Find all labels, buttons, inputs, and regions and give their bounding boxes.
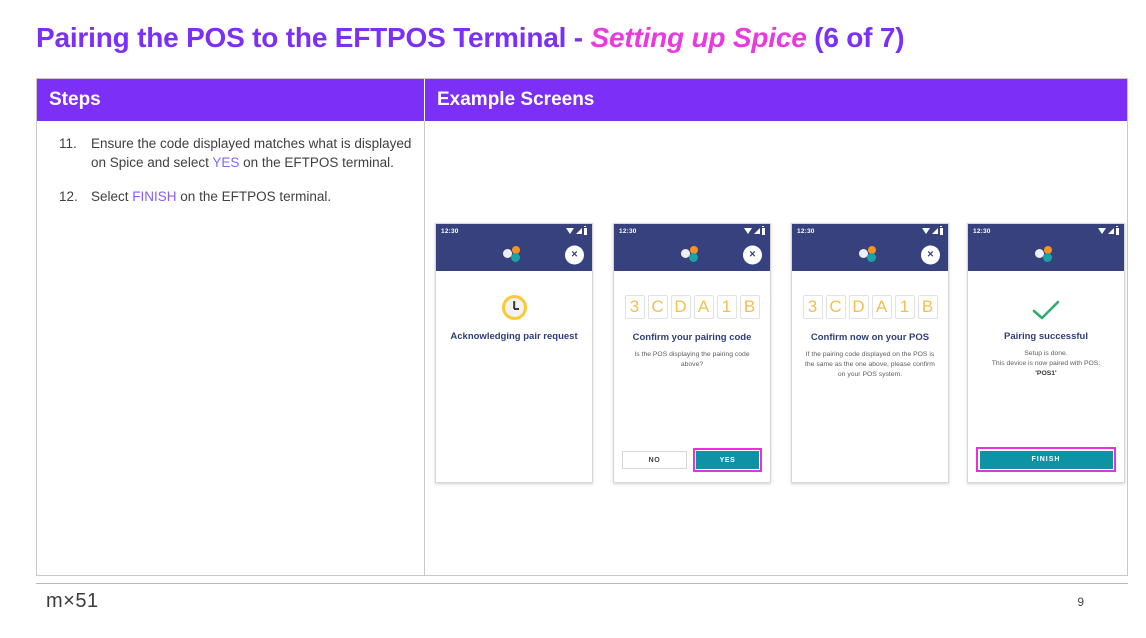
- status-bar: 12:30: [968, 224, 1124, 238]
- column-header-example-screens: Example Screens: [425, 79, 1127, 121]
- pairing-code-digit: D: [849, 295, 869, 319]
- screen-content: Acknowledging pair request: [436, 271, 592, 482]
- pairing-code-digit: 3: [803, 295, 823, 319]
- finish-button[interactable]: FINISH: [980, 451, 1113, 469]
- phone-screen-confirm-pairing-code: 12:30 ×: [613, 223, 771, 483]
- mx51-logo-icon: [1035, 246, 1057, 263]
- clock-icon: [502, 295, 527, 320]
- pairing-code-digit: A: [872, 295, 892, 319]
- phone-mockups: 12:30 ×: [425, 121, 1127, 576]
- phone-screen-acknowledging: 12:30 ×: [435, 223, 593, 483]
- wifi-icon: [922, 228, 930, 234]
- signal-icon: [1108, 228, 1114, 234]
- screen-title: Confirm now on your POS: [811, 332, 929, 344]
- app-bar: ×: [792, 238, 948, 271]
- status-bar-icons: [566, 228, 588, 235]
- screen-content: 3 C D A 1 B Confirm now on your POS If t…: [792, 271, 948, 482]
- close-icon[interactable]: ×: [921, 245, 940, 264]
- example-screens-column: 12:30 ×: [425, 121, 1127, 576]
- table-header-row: Steps Example Screens: [37, 79, 1127, 121]
- status-bar-icons: [744, 228, 766, 235]
- close-icon[interactable]: ×: [743, 245, 762, 264]
- wifi-icon: [744, 228, 752, 234]
- status-bar: 12:30: [614, 224, 770, 238]
- signal-icon: [576, 228, 582, 234]
- screen-subtitle: If the pairing code displayed on the POS…: [801, 350, 939, 380]
- status-bar: 12:30: [436, 224, 592, 238]
- step-item: 12. Select FINISH on the EFTPOS terminal…: [47, 188, 412, 207]
- status-bar-icons: [1098, 228, 1120, 235]
- screen-subtitle-line2: This device is now paired with POS:: [992, 360, 1100, 367]
- mx51-logo-icon: [859, 246, 881, 263]
- step-text: Ensure the code displayed matches what i…: [91, 135, 412, 172]
- close-icon[interactable]: ×: [565, 245, 584, 264]
- phone-screen-pairing-successful: 12:30: [967, 223, 1125, 483]
- mx51-logo-icon: [681, 246, 703, 263]
- app-bar: ×: [614, 238, 770, 271]
- phone-screen-confirm-on-pos: 12:30 ×: [791, 223, 949, 483]
- battery-icon: [940, 228, 944, 235]
- page-title-main: Pairing the POS to the EFTPOS Terminal -: [36, 22, 590, 53]
- table-body-row: 11. Ensure the code displayed matches wh…: [37, 121, 1127, 576]
- status-bar-icons: [922, 228, 944, 235]
- page-title: Pairing the POS to the EFTPOS Terminal -…: [36, 22, 904, 54]
- footer-divider: [36, 583, 1128, 584]
- battery-icon: [762, 228, 766, 235]
- screen-action-buttons: NO YES: [622, 448, 762, 472]
- yes-button[interactable]: YES: [696, 451, 759, 469]
- step-highlight-yes: YES: [212, 155, 239, 170]
- battery-icon: [1116, 228, 1120, 235]
- step-text-after: on the EFTPOS terminal.: [239, 155, 394, 170]
- status-bar-time: 12:30: [441, 228, 459, 235]
- yes-button-highlight: YES: [693, 448, 762, 472]
- status-bar: 12:30: [792, 224, 948, 238]
- step-text-after: on the EFTPOS terminal.: [177, 189, 332, 204]
- pairing-code-digit: 1: [895, 295, 915, 319]
- step-item: 11. Ensure the code displayed matches wh…: [47, 135, 412, 172]
- pairing-code-digit: C: [826, 295, 846, 319]
- wifi-icon: [566, 228, 574, 234]
- step-number: 12.: [47, 188, 91, 207]
- screen-content: Pairing successful Setup is done. This d…: [968, 271, 1124, 482]
- screen-title: Confirm your pairing code: [633, 332, 752, 344]
- no-button[interactable]: NO: [622, 451, 687, 469]
- status-bar-time: 12:30: [797, 228, 815, 235]
- page-title-emphasis: Setting up Spice: [590, 22, 806, 53]
- status-bar-time: 12:30: [619, 228, 637, 235]
- brand-logo: m×51: [46, 590, 99, 613]
- check-icon: [1031, 299, 1061, 321]
- app-bar: ×: [436, 238, 592, 271]
- step-text: Select FINISH on the EFTPOS terminal.: [91, 188, 412, 207]
- content-table: Steps Example Screens 11. Ensure the cod…: [36, 78, 1128, 576]
- screen-title: Acknowledging pair request: [450, 331, 577, 343]
- app-bar: [968, 238, 1124, 271]
- signal-icon: [754, 228, 760, 234]
- mx51-logo-icon: [503, 246, 525, 263]
- screen-subtitle: Is the POS displaying the pairing code a…: [623, 350, 761, 370]
- pairing-code-digit: 1: [717, 295, 737, 319]
- pairing-code-digit: B: [740, 295, 760, 319]
- pairing-code-digit: A: [694, 295, 714, 319]
- pairing-code-digit: C: [648, 295, 668, 319]
- screen-title: Pairing successful: [1004, 331, 1088, 343]
- pairing-code-display: 3 C D A 1 B: [625, 295, 760, 319]
- screen-subtitle-line1: Setup is done.: [1024, 350, 1067, 357]
- pairing-code-display: 3 C D A 1 B: [803, 295, 938, 319]
- screen-content: 3 C D A 1 B Confirm your pairing code Is…: [614, 271, 770, 482]
- pairing-code-digit: B: [918, 295, 938, 319]
- pairing-code-digit: D: [671, 295, 691, 319]
- page-title-tail: (6 of 7): [807, 22, 905, 53]
- wifi-icon: [1098, 228, 1106, 234]
- status-bar-time: 12:30: [973, 228, 991, 235]
- screen-subtitle: Setup is done. This device is now paired…: [992, 349, 1100, 379]
- signal-icon: [932, 228, 938, 234]
- page-number: 9: [1077, 595, 1084, 609]
- step-number: 11.: [47, 135, 91, 172]
- finish-button-highlight: FINISH: [976, 447, 1116, 472]
- step-text-before: Select: [91, 189, 132, 204]
- paired-pos-name: 'POS1': [1035, 370, 1056, 377]
- battery-icon: [584, 228, 588, 235]
- steps-column: 11. Ensure the code displayed matches wh…: [37, 121, 425, 576]
- column-header-steps: Steps: [37, 79, 425, 121]
- pairing-code-digit: 3: [625, 295, 645, 319]
- step-highlight-finish: FINISH: [132, 189, 176, 204]
